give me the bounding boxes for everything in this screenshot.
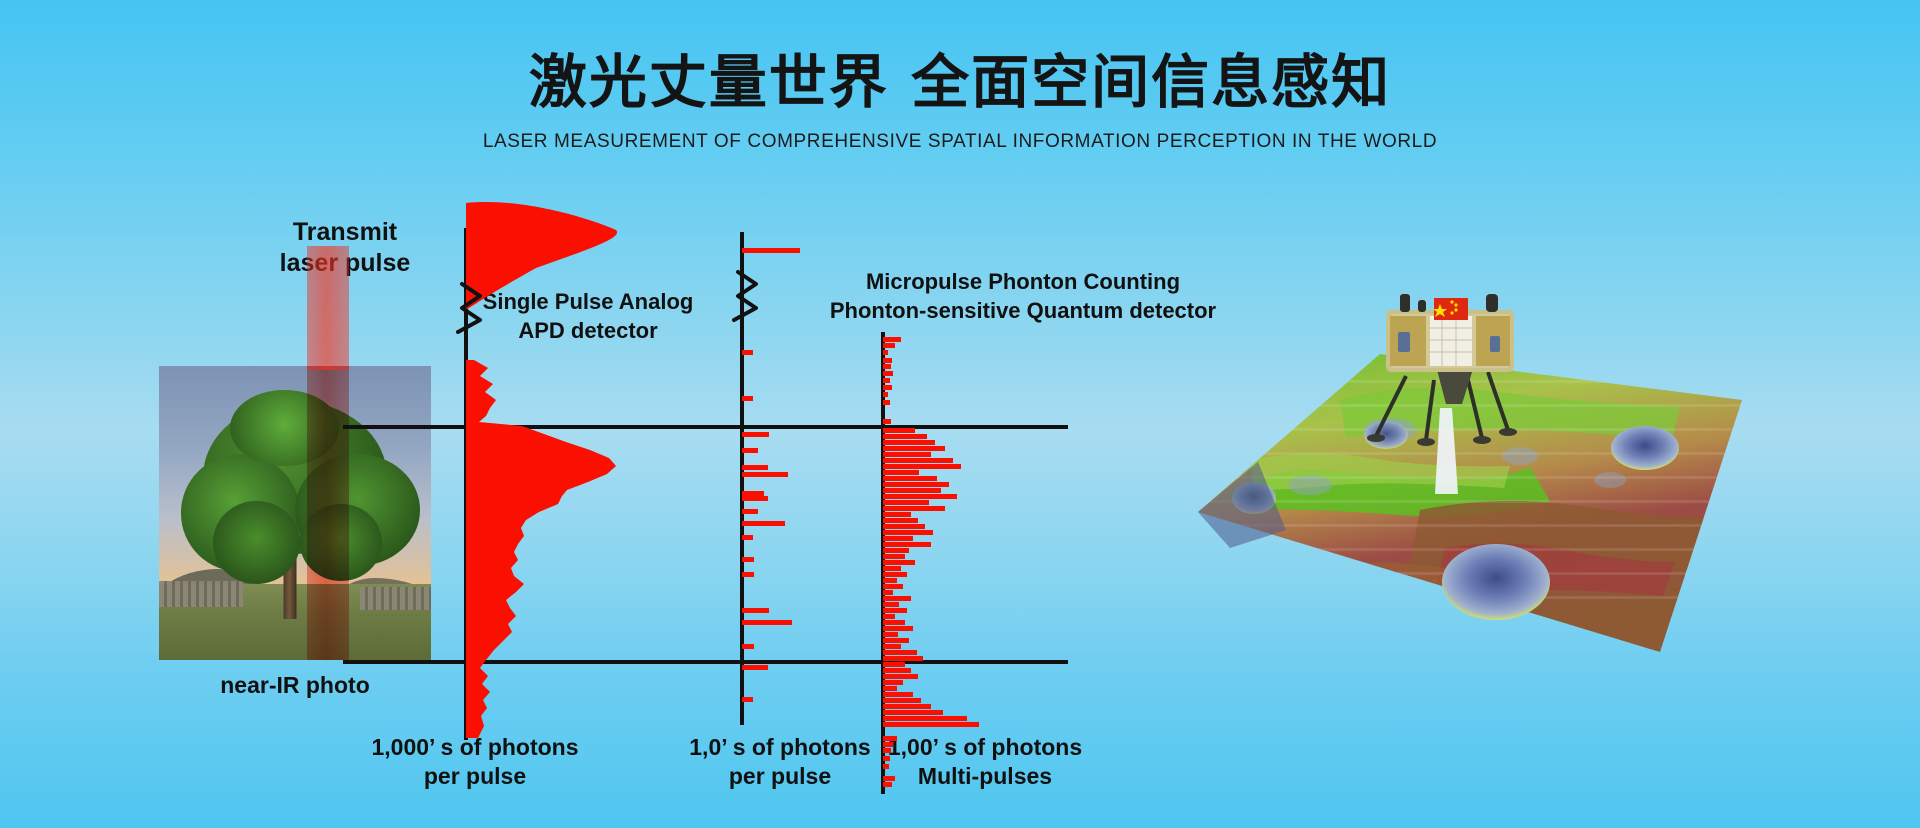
chart3-photon-bar xyxy=(883,524,925,529)
terrain-svg xyxy=(1190,280,1750,700)
chart3-photon-bar xyxy=(883,470,919,475)
reference-line-ground xyxy=(343,660,1068,664)
chart3-photon-bar xyxy=(883,500,929,505)
chart2-photon-bar xyxy=(742,248,800,253)
chart2-photon-bar xyxy=(742,496,768,501)
chart3-photon-bar xyxy=(883,620,905,625)
chart3-photon-bar xyxy=(883,440,935,445)
chart2-photon-bar xyxy=(742,521,785,526)
chart3-photon-bar xyxy=(883,482,949,487)
photo-stone-wall-right xyxy=(360,587,431,611)
chart3-photon-bar xyxy=(883,686,897,691)
chart3-photon-bar xyxy=(883,337,901,342)
chart2-vertical-axis xyxy=(740,232,744,725)
chart3-photon-bar xyxy=(883,596,911,601)
chart3-photon-bar xyxy=(883,385,892,390)
chart3-photon-bar xyxy=(883,343,895,348)
chart3-photon-bar xyxy=(883,494,957,499)
chart3-photon-bar xyxy=(883,560,915,565)
chart3-photon-bar xyxy=(883,602,899,607)
chart2-photon-bar xyxy=(742,448,758,453)
chart3-photon-bar xyxy=(883,434,927,439)
chart3-photon-bar xyxy=(883,644,901,649)
chart3-vertical-axis xyxy=(881,332,885,794)
chart2-photon-bar xyxy=(742,608,769,613)
chart3-photon-bar xyxy=(883,464,961,469)
crater-right xyxy=(1611,426,1679,470)
chart2-photon-bar xyxy=(742,465,768,470)
caption-photons-per-pulse-1000: 1,000’ s of photons per pulse xyxy=(340,733,610,790)
chart3-photon-bar xyxy=(883,710,943,715)
chart3-photon-bar xyxy=(883,392,888,397)
chart3-photon-bar xyxy=(883,530,933,535)
chart3-photon-bar xyxy=(883,632,898,637)
chart2-photon-bar xyxy=(742,572,754,577)
chart3-photon-bar xyxy=(883,542,931,547)
chart3-photon-bar xyxy=(883,698,921,703)
chart3-photon-bar xyxy=(883,488,941,493)
laser-beam-overlay-on-photo xyxy=(307,366,349,660)
near-ir-photo xyxy=(159,366,431,660)
chart3-photon-bar xyxy=(883,378,890,383)
chart3-photon-bar xyxy=(883,548,909,553)
chart2-photon-bar xyxy=(742,472,788,477)
chart3-photon-bar xyxy=(883,578,897,583)
chart3-photon-bar xyxy=(883,536,913,541)
chart3-photon-bar xyxy=(883,554,905,559)
chart3-photon-bar xyxy=(883,716,967,721)
crater-large xyxy=(1442,544,1550,620)
chart2-photon-bar xyxy=(742,665,768,670)
chart3-photon-bar xyxy=(883,680,903,685)
chart3-photon-bar xyxy=(883,674,918,679)
chart3-photon-bar xyxy=(883,476,937,481)
chart-title-micropulse: Micropulse Phonton Counting Phonton-sens… xyxy=(813,268,1233,325)
laser-beam-above-photo xyxy=(307,246,349,370)
chart3-photon-bar xyxy=(883,458,953,463)
chart2-photon-bar xyxy=(742,350,753,355)
chart-title-apd: Single Pulse Analog APD detector xyxy=(443,288,733,345)
chart3-photon-bar xyxy=(883,572,907,577)
chart3-photon-bar xyxy=(883,584,903,589)
chart3-photon-bar xyxy=(883,364,891,369)
chart3-photon-bar xyxy=(883,419,891,424)
chart3-photon-bar xyxy=(883,512,911,517)
lander-instrument xyxy=(1490,336,1500,352)
chart3-photon-bar xyxy=(883,722,979,727)
chart3-photon-bar xyxy=(883,638,909,643)
chart2-photon-bar xyxy=(742,644,754,649)
chart3-photon-bar xyxy=(883,350,888,355)
chart3-photon-bar xyxy=(883,608,907,613)
axis-break-mark xyxy=(734,272,756,320)
lidar-3d-terrain-model xyxy=(1190,280,1750,700)
chart2-photon-bar xyxy=(742,432,769,437)
chart3-photon-bar xyxy=(883,400,890,405)
lander-instrument xyxy=(1398,332,1410,352)
chart1-return-waveform xyxy=(466,360,616,738)
chart2-photon-bar xyxy=(742,620,792,625)
chart3-photon-bar xyxy=(883,704,931,709)
chart3-photon-bar xyxy=(883,566,901,571)
near-ir-photo-label: near-IR photo xyxy=(180,672,410,699)
chart3-photon-bar xyxy=(883,446,945,451)
chart3-photon-bar xyxy=(883,506,945,511)
terrain-plate xyxy=(1190,354,1750,652)
chart3-photon-bar xyxy=(883,614,895,619)
chart3-photon-bar xyxy=(883,590,893,595)
chart3-photon-bar xyxy=(883,358,892,363)
chart3-photon-bar xyxy=(883,626,913,631)
caption-photons-multipulse-100: 1,00’ s of photons Multi-pulses xyxy=(850,733,1120,790)
reference-line-canopy-top xyxy=(343,425,1068,429)
chart2-photon-bar xyxy=(742,396,753,401)
chart2-photon-bar xyxy=(742,535,753,540)
chart2-photon-bar xyxy=(742,697,753,702)
chart3-photon-bar xyxy=(883,452,931,457)
chart3-photon-bar xyxy=(883,518,918,523)
photo-stone-wall-left xyxy=(159,581,243,607)
chart2-photon-bar xyxy=(742,509,758,514)
infographic-stage: Transmit laser pulse near-IR photo Singl… xyxy=(0,0,1920,828)
chart2-photon-bar xyxy=(742,557,754,562)
chart3-photon-bar xyxy=(883,668,911,673)
chart2-photon-bar xyxy=(742,491,764,496)
chart3-photon-bar xyxy=(883,692,913,697)
chart3-photon-bar xyxy=(883,650,917,655)
chart3-photon-bar xyxy=(883,371,893,376)
photo-canopy-blob xyxy=(213,501,300,583)
